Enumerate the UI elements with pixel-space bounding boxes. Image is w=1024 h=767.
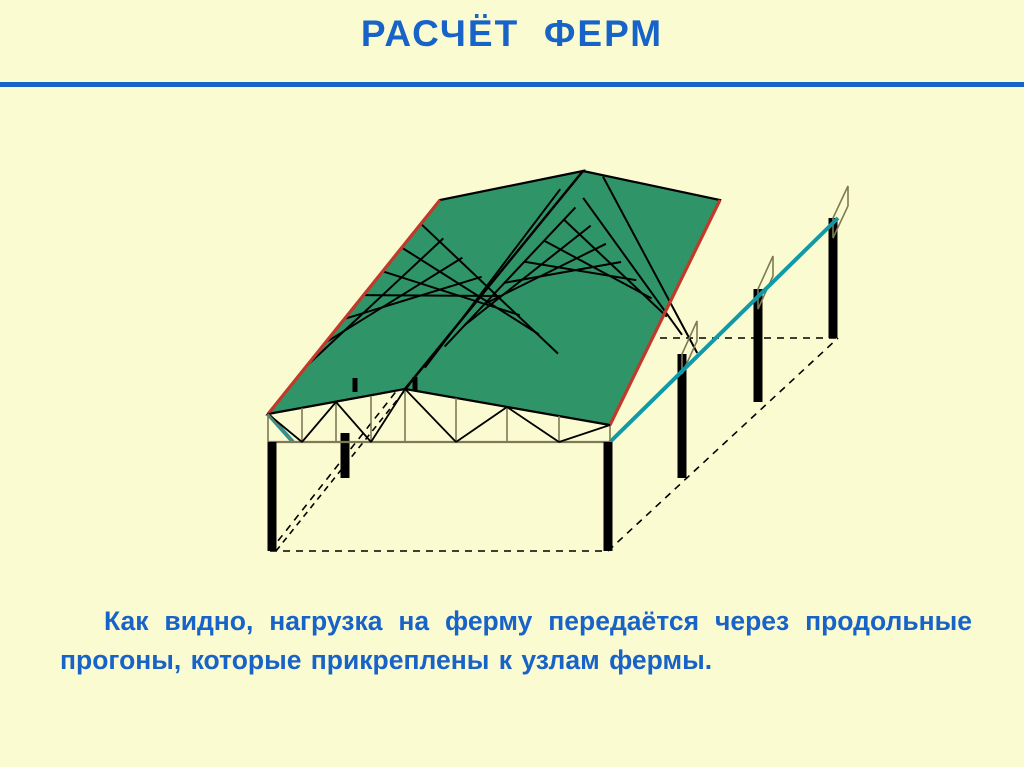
left-end-frame <box>268 414 293 442</box>
page-title: РАСЧЁТ ФЕРМ <box>0 14 1024 55</box>
body-paragraph: Как видно, нагрузка на ферму передаётся … <box>60 602 972 680</box>
slide-root: РАСЧЁТ ФЕРМ <box>0 0 1024 767</box>
columns-front <box>272 442 608 551</box>
truss-diagram <box>0 96 1024 586</box>
title-divider <box>0 82 1024 87</box>
